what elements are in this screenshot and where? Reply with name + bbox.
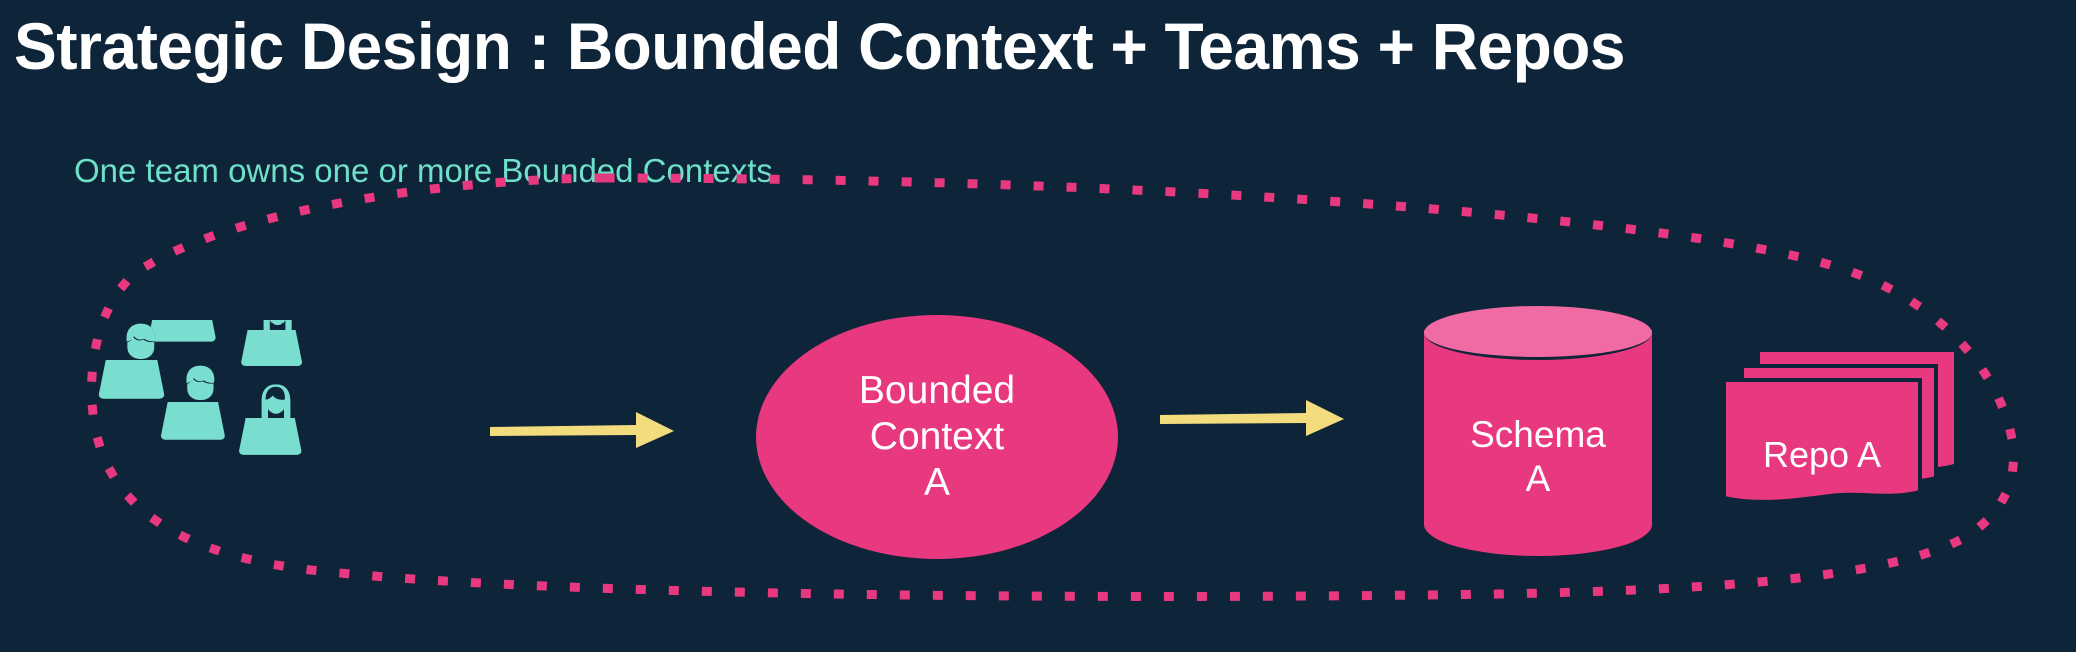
bounded-context-line-2: Context (870, 414, 1004, 460)
bounded-context-label: Bounded Context A (756, 315, 1118, 559)
repo-stack-node: Repo A (1724, 352, 1954, 510)
laptop-icon (161, 402, 225, 440)
schema-line-1: Schema (1470, 413, 1606, 457)
page-title: Strategic Design : Bounded Context + Tea… (14, 8, 1625, 84)
arrow-context-to-schema (1160, 396, 1346, 449)
page-subtitle: One team owns one or more Bounded Contex… (74, 152, 773, 190)
repo-label: Repo A (1724, 380, 1920, 530)
schema-label: Schema A (1424, 358, 1652, 556)
schema-database-node: Schema A (1424, 306, 1652, 556)
arrow-team-to-context (490, 408, 676, 461)
slide-canvas: Strategic Design : Bounded Context + Tea… (0, 0, 2076, 652)
bounded-context-line-1: Bounded (859, 368, 1015, 414)
laptop-icon (99, 360, 164, 399)
bounded-context-line-3: A (924, 460, 950, 506)
laptop-icon (239, 418, 301, 455)
cylinder-top-ellipse (1424, 306, 1652, 360)
laptop-icon (149, 320, 216, 342)
schema-line-2: A (1526, 457, 1551, 501)
laptop-icon (241, 330, 302, 366)
team-cluster (96, 320, 396, 510)
